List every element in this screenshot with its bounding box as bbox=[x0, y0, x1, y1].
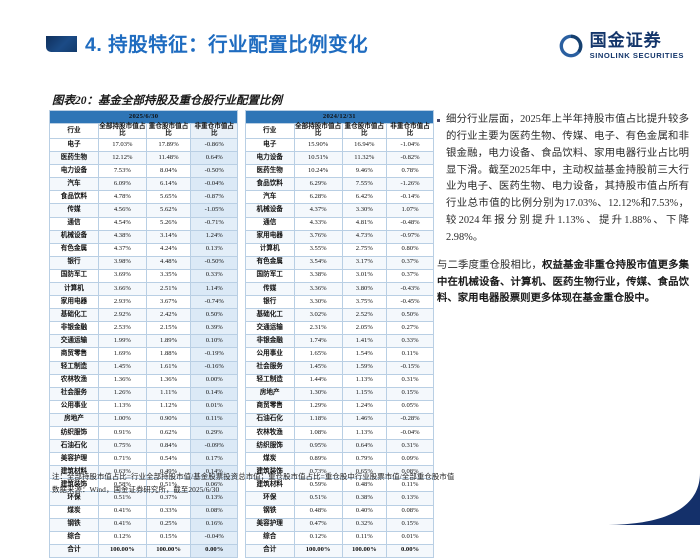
cell-heavy-share-left: 1.88% bbox=[146, 348, 191, 361]
cell-sector-right: 房地产 bbox=[245, 387, 294, 400]
cell-total-share-right: 1.18% bbox=[294, 413, 342, 426]
cell-heavy-share-right: 3.17% bbox=[342, 256, 387, 269]
cell-total-share-right: 1.74% bbox=[294, 335, 342, 348]
cell-heavy-share-right: 0.40% bbox=[342, 505, 387, 518]
table-row: 家用电器2.93%3.67%-0.74%银行3.30%3.75%-0.45% bbox=[50, 296, 434, 309]
cell-total-share-left: 0.41% bbox=[98, 505, 146, 518]
cell-total-share-right: 0.48% bbox=[294, 505, 342, 518]
cell-heavy-share-right: 6.42% bbox=[342, 191, 387, 204]
cell-nonheavy-share-left: -0.50% bbox=[191, 165, 238, 178]
table-note: 注：全部持股市值占比=行业全部持股市值/基金股票投资总市值；重仓股市值占比=重仓… bbox=[52, 471, 454, 482]
cell-heavy-share-left: 4.24% bbox=[146, 243, 191, 256]
cell-total-share-right: 3.76% bbox=[294, 230, 342, 243]
table-gap bbox=[238, 374, 246, 387]
cell-nonheavy-share-right: -0.04% bbox=[387, 427, 434, 440]
cell-total-share-right: 0.89% bbox=[294, 453, 342, 466]
cell-sector-right: 轻工制造 bbox=[245, 374, 294, 387]
cell-heavy-share-left: 11.48% bbox=[146, 152, 191, 165]
cell-nonheavy-share-right: -0.43% bbox=[387, 282, 434, 295]
cell-sector-left: 农林牧渔 bbox=[50, 374, 99, 387]
cell-heavy-share-left: 1.11% bbox=[146, 387, 191, 400]
table-row: 煤炭0.41%0.33%0.08%钢铁0.48%0.40%0.08% bbox=[50, 505, 434, 518]
cell-total-share-left: 2.93% bbox=[98, 296, 146, 309]
cell-heavy-share-right: 1.46% bbox=[342, 413, 387, 426]
cell-heavy-share-right: 0.11% bbox=[342, 531, 387, 544]
table-gap bbox=[238, 111, 246, 124]
cell-sector-left: 公用事业 bbox=[50, 400, 99, 413]
cell-heavy-share-left: 2.51% bbox=[146, 282, 191, 295]
cell-total-share-right: 0.95% bbox=[294, 440, 342, 453]
table-row: 交通运输1.99%1.89%0.10%非银金融1.74%1.41%0.33% bbox=[50, 335, 434, 348]
table-row: 银行3.98%4.48%-0.50%有色金属3.54%3.17%0.37% bbox=[50, 256, 434, 269]
table-row: 公用事业1.13%1.12%0.01%商贸零售1.29%1.24%0.05% bbox=[50, 400, 434, 413]
cell-total-share-left: 4.37% bbox=[98, 243, 146, 256]
cell-sector-left: 传媒 bbox=[50, 204, 99, 217]
cell-heavy-share-left: 0.90% bbox=[146, 413, 191, 426]
cell-sector-right: 机械设备 bbox=[245, 204, 294, 217]
cell-total-share-left: 17.03% bbox=[98, 138, 146, 151]
cell-total-share-right: 1.44% bbox=[294, 374, 342, 387]
cell-heavy-share-left: 5.65% bbox=[146, 191, 191, 204]
cell-nonheavy-share-left: -0.86% bbox=[191, 138, 238, 151]
cell-sector-left: 计算机 bbox=[50, 282, 99, 295]
col-header-total-left: 全部持股市值占比 bbox=[98, 124, 146, 139]
table-gap bbox=[238, 243, 246, 256]
table-row: 有色金属4.37%4.24%0.13%计算机3.55%2.75%0.80% bbox=[50, 243, 434, 256]
table-gap bbox=[238, 335, 246, 348]
cell-sector-right: 社会服务 bbox=[245, 361, 294, 374]
cell-total-share-left: 3.98% bbox=[98, 256, 146, 269]
cell-sector-left: 基础化工 bbox=[50, 309, 99, 322]
cell-sector-right: 合计 bbox=[245, 544, 294, 557]
table-row: 计算机3.66%2.51%1.14%传媒3.36%3.80%-0.43% bbox=[50, 282, 434, 295]
cell-total-share-left: 0.91% bbox=[98, 427, 146, 440]
cell-nonheavy-share-left: 0.50% bbox=[191, 309, 238, 322]
cell-nonheavy-share-left: 0.13% bbox=[191, 243, 238, 256]
cell-sector-left: 商贸零售 bbox=[50, 348, 99, 361]
cell-heavy-share-right: 1.13% bbox=[342, 427, 387, 440]
cell-total-share-left: 1.26% bbox=[98, 387, 146, 400]
table-row: 机械设备4.38%3.14%1.24%家用电器3.76%4.73%-0.97% bbox=[50, 230, 434, 243]
cell-nonheavy-share-left: -0.04% bbox=[191, 178, 238, 191]
cell-sector-left: 煤炭 bbox=[50, 505, 99, 518]
cell-sector-right: 银行 bbox=[245, 296, 294, 309]
cell-heavy-share-right: 4.73% bbox=[342, 230, 387, 243]
cell-sector-right: 医药生物 bbox=[245, 165, 294, 178]
table-gap bbox=[238, 505, 246, 518]
cell-total-share-right: 3.55% bbox=[294, 243, 342, 256]
cell-nonheavy-share-right: 0.31% bbox=[387, 374, 434, 387]
table-gap bbox=[238, 531, 246, 544]
table-gap bbox=[238, 204, 246, 217]
cell-nonheavy-share-left: 0.17% bbox=[191, 453, 238, 466]
commentary-paragraph-2-lead: 与二季度重仓股相比， bbox=[437, 260, 542, 271]
col-header-nonheavy-right: 非重仓市值占比 bbox=[387, 124, 434, 139]
table-row: 社会服务1.26%1.11%0.14%房地产1.30%1.15%0.15% bbox=[50, 387, 434, 400]
cell-nonheavy-share-right: -1.04% bbox=[387, 138, 434, 151]
table-head: 2025/6/30 2024/12/31 行业 全部持股市值占比 重仓股市值占比… bbox=[50, 111, 434, 139]
cell-nonheavy-share-right: 0.78% bbox=[387, 165, 434, 178]
cell-sector-left: 社会服务 bbox=[50, 387, 99, 400]
cell-total-share-left: 1.36% bbox=[98, 374, 146, 387]
cell-total-share-right: 4.37% bbox=[294, 204, 342, 217]
table-row: 基础化工2.92%2.42%0.50%基础化工3.02%2.52%0.50% bbox=[50, 309, 434, 322]
cell-sector-right: 煤炭 bbox=[245, 453, 294, 466]
table-gap bbox=[238, 230, 246, 243]
table-row: 合计100.00%100.00%0.00%合计100.00%100.00%0.0… bbox=[50, 544, 434, 557]
cell-heavy-share-left: 17.89% bbox=[146, 138, 191, 151]
cell-heavy-share-right: 7.55% bbox=[342, 178, 387, 191]
cell-total-share-right: 3.36% bbox=[294, 282, 342, 295]
cell-total-share-left: 3.69% bbox=[98, 269, 146, 282]
cell-total-share-right: 10.51% bbox=[294, 152, 342, 165]
table-period-row: 2025/6/30 2024/12/31 bbox=[50, 111, 434, 124]
table-row: 电力设备7.53%8.04%-0.50%医药生物10.24%9.46%0.78% bbox=[50, 165, 434, 178]
cell-total-share-right: 4.33% bbox=[294, 217, 342, 230]
slide-header: 4. 持股特征：行业配置比例变化 国金证券 SINOLINK SECURITIE… bbox=[0, 0, 700, 72]
cell-total-share-left: 1.13% bbox=[98, 400, 146, 413]
cell-total-share-right: 15.90% bbox=[294, 138, 342, 151]
cell-heavy-share-left: 0.62% bbox=[146, 427, 191, 440]
col-header-heavy-right: 重仓股市值占比 bbox=[342, 124, 387, 139]
cell-sector-right: 电子 bbox=[245, 138, 294, 151]
cell-nonheavy-share-right: 1.07% bbox=[387, 204, 434, 217]
cell-total-share-right: 3.38% bbox=[294, 269, 342, 282]
cell-total-share-left: 4.38% bbox=[98, 230, 146, 243]
data-source: 数据来源：Wind，国金证券研究所，截至2025/6/30 bbox=[52, 484, 219, 495]
cell-heavy-share-right: 100.00% bbox=[342, 544, 387, 557]
cell-sector-right: 基础化工 bbox=[245, 309, 294, 322]
cell-nonheavy-share-right: 0.80% bbox=[387, 243, 434, 256]
cell-total-share-left: 4.54% bbox=[98, 217, 146, 230]
cell-sector-right: 汽车 bbox=[245, 191, 294, 204]
cell-sector-right: 石油石化 bbox=[245, 413, 294, 426]
cell-sector-left: 有色金属 bbox=[50, 243, 99, 256]
cell-nonheavy-share-left: -0.09% bbox=[191, 440, 238, 453]
cell-total-share-left: 0.12% bbox=[98, 531, 146, 544]
table-gap bbox=[238, 361, 246, 374]
logo-chinese-name: 国金证券 bbox=[590, 32, 684, 49]
table-gap bbox=[238, 544, 246, 557]
table-gap bbox=[238, 282, 246, 295]
table-gap bbox=[238, 492, 246, 505]
logo-english-name: SINOLINK SECURITIES bbox=[590, 52, 684, 60]
table-row: 纺织服饰0.91%0.62%0.29%农林牧渔1.08%1.13%-0.04% bbox=[50, 427, 434, 440]
cell-sector-right: 钢铁 bbox=[245, 505, 294, 518]
table-row: 美容护理0.71%0.54%0.17%煤炭0.89%0.79%0.09% bbox=[50, 453, 434, 466]
cell-sector-left: 银行 bbox=[50, 256, 99, 269]
cell-nonheavy-share-left: -0.16% bbox=[191, 361, 238, 374]
cell-total-share-right: 0.12% bbox=[294, 531, 342, 544]
cell-total-share-right: 1.30% bbox=[294, 387, 342, 400]
cell-sector-left: 交通运输 bbox=[50, 335, 99, 348]
cell-heavy-share-left: 1.36% bbox=[146, 374, 191, 387]
cell-heavy-share-right: 1.41% bbox=[342, 335, 387, 348]
cell-nonheavy-share-left: 0.00% bbox=[191, 374, 238, 387]
table-row: 通信4.54%5.26%-0.71%通信4.33%4.81%-0.48% bbox=[50, 217, 434, 230]
cell-nonheavy-share-left: 1.14% bbox=[191, 282, 238, 295]
table-row: 非银金融2.53%2.15%0.39%交通运输2.31%2.05%0.27% bbox=[50, 322, 434, 335]
cell-nonheavy-share-right: 0.37% bbox=[387, 269, 434, 282]
cell-sector-right: 家用电器 bbox=[245, 230, 294, 243]
cell-nonheavy-share-right: 0.37% bbox=[387, 256, 434, 269]
cell-heavy-share-right: 2.52% bbox=[342, 309, 387, 322]
cell-sector-left: 电子 bbox=[50, 138, 99, 151]
cell-total-share-left: 0.75% bbox=[98, 440, 146, 453]
table-gap bbox=[238, 296, 246, 309]
table-row: 综合0.12%0.15%-0.04%综合0.12%0.11%0.01% bbox=[50, 531, 434, 544]
cell-heavy-share-right: 0.64% bbox=[342, 440, 387, 453]
table-gap bbox=[238, 413, 246, 426]
cell-heavy-share-left: 3.14% bbox=[146, 230, 191, 243]
col-header-sector-right: 行业 bbox=[245, 124, 294, 139]
table-gap bbox=[238, 309, 246, 322]
cell-heavy-share-right: 9.46% bbox=[342, 165, 387, 178]
cell-total-share-right: 0.51% bbox=[294, 492, 342, 505]
cell-heavy-share-right: 3.01% bbox=[342, 269, 387, 282]
cell-sector-left: 汽车 bbox=[50, 178, 99, 191]
cell-nonheavy-share-left: -0.04% bbox=[191, 531, 238, 544]
cell-total-share-right: 1.65% bbox=[294, 348, 342, 361]
cell-heavy-share-left: 0.15% bbox=[146, 531, 191, 544]
table-gap bbox=[238, 348, 246, 361]
cell-nonheavy-share-right: 0.27% bbox=[387, 322, 434, 335]
cell-nonheavy-share-right: -0.28% bbox=[387, 413, 434, 426]
cell-heavy-share-right: 2.05% bbox=[342, 322, 387, 335]
cell-total-share-left: 1.45% bbox=[98, 361, 146, 374]
cell-heavy-share-right: 11.32% bbox=[342, 152, 387, 165]
cell-heavy-share-left: 2.15% bbox=[146, 322, 191, 335]
cell-heavy-share-left: 2.42% bbox=[146, 309, 191, 322]
cell-nonheavy-share-right: -0.14% bbox=[387, 191, 434, 204]
cell-heavy-share-right: 1.54% bbox=[342, 348, 387, 361]
cell-heavy-share-left: 1.61% bbox=[146, 361, 191, 374]
cell-nonheavy-share-left: 0.10% bbox=[191, 335, 238, 348]
cell-sector-left: 综合 bbox=[50, 531, 99, 544]
cell-sector-right: 电力设备 bbox=[245, 152, 294, 165]
cell-heavy-share-left: 8.04% bbox=[146, 165, 191, 178]
table-row: 汽车6.09%6.14%-0.04%食品饮料6.29%7.55%-1.26% bbox=[50, 178, 434, 191]
table-gap bbox=[238, 191, 246, 204]
cell-heavy-share-right: 1.24% bbox=[342, 400, 387, 413]
cell-nonheavy-share-right: 0.50% bbox=[387, 309, 434, 322]
title-marker-icon bbox=[46, 36, 77, 52]
cell-sector-right: 食品饮料 bbox=[245, 178, 294, 191]
table-gap bbox=[238, 124, 246, 139]
corner-decoration bbox=[604, 473, 700, 525]
table-gap bbox=[238, 152, 246, 165]
cell-nonheavy-share-right: 0.11% bbox=[387, 348, 434, 361]
cell-sector-left: 通信 bbox=[50, 217, 99, 230]
cell-total-share-right: 1.45% bbox=[294, 361, 342, 374]
cell-heavy-share-left: 6.14% bbox=[146, 178, 191, 191]
cell-sector-right: 农林牧渔 bbox=[245, 427, 294, 440]
cell-heavy-share-left: 3.67% bbox=[146, 296, 191, 309]
commentary-panel: 细分行业层面，2025年上半年持股市值占比提升较多的行业主要为医药生物、传媒、电… bbox=[437, 112, 689, 308]
cell-sector-left: 食品饮料 bbox=[50, 191, 99, 204]
cell-total-share-left: 1.99% bbox=[98, 335, 146, 348]
table-row: 电子17.03%17.89%-0.86%电子15.90%16.94%-1.04% bbox=[50, 138, 434, 151]
table-row: 商贸零售1.69%1.88%-0.19%公用事业1.65%1.54%0.11% bbox=[50, 348, 434, 361]
cell-heavy-share-left: 100.00% bbox=[146, 544, 191, 557]
cell-total-share-right: 100.00% bbox=[294, 544, 342, 557]
cell-nonheavy-share-right: -0.97% bbox=[387, 230, 434, 243]
period-left: 2025/6/30 bbox=[50, 111, 238, 124]
cell-total-share-left: 6.09% bbox=[98, 178, 146, 191]
cell-sector-left: 医药生物 bbox=[50, 152, 99, 165]
company-logo: 国金证券 SINOLINK SECURITIES bbox=[558, 29, 684, 63]
table-gap bbox=[238, 165, 246, 178]
cell-sector-right: 非银金融 bbox=[245, 335, 294, 348]
col-header-nonheavy-left: 非重仓市值占比 bbox=[191, 124, 238, 139]
commentary-paragraph-1: 细分行业层面，2025年上半年持股市值占比提升较多的行业主要为医药生物、传媒、电… bbox=[446, 112, 689, 247]
page-title: 4. 持股特征：行业配置比例变化 bbox=[85, 28, 368, 57]
cell-heavy-share-left: 3.35% bbox=[146, 269, 191, 282]
table-gap bbox=[238, 440, 246, 453]
cell-heavy-share-left: 1.12% bbox=[146, 400, 191, 413]
table-row: 食品饮料4.78%5.65%-0.87%汽车6.28%6.42%-0.14% bbox=[50, 191, 434, 204]
cell-nonheavy-share-left: 0.29% bbox=[191, 427, 238, 440]
cell-sector-right: 有色金属 bbox=[245, 256, 294, 269]
cell-sector-left: 电力设备 bbox=[50, 165, 99, 178]
cell-sector-right: 综合 bbox=[245, 531, 294, 544]
cell-nonheavy-share-right: 0.05% bbox=[387, 400, 434, 413]
cell-total-share-left: 1.69% bbox=[98, 348, 146, 361]
sinolink-logo-icon bbox=[558, 33, 584, 59]
cell-heavy-share-right: 1.59% bbox=[342, 361, 387, 374]
cell-sector-right: 计算机 bbox=[245, 243, 294, 256]
cell-heavy-share-right: 0.79% bbox=[342, 453, 387, 466]
table-gap bbox=[238, 322, 246, 335]
cell-total-share-left: 0.71% bbox=[98, 453, 146, 466]
cell-nonheavy-share-left: -0.71% bbox=[191, 217, 238, 230]
cell-sector-left: 美容护理 bbox=[50, 453, 99, 466]
cell-sector-right: 纺织服饰 bbox=[245, 440, 294, 453]
col-header-sector-left: 行业 bbox=[50, 124, 99, 139]
table-row: 传媒4.56%5.62%-1.05%机械设备4.37%3.30%1.07% bbox=[50, 204, 434, 217]
cell-nonheavy-share-left: -0.50% bbox=[191, 256, 238, 269]
cell-total-share-left: 12.12% bbox=[98, 152, 146, 165]
table-row: 国防军工3.69%3.35%0.33%国防军工3.38%3.01%0.37% bbox=[50, 269, 434, 282]
cell-total-share-left: 2.53% bbox=[98, 322, 146, 335]
cell-sector-left: 机械设备 bbox=[50, 230, 99, 243]
cell-total-share-left: 4.78% bbox=[98, 191, 146, 204]
col-header-heavy-left: 重仓股市值占比 bbox=[146, 124, 191, 139]
col-header-total-right: 全部持股市值占比 bbox=[294, 124, 342, 139]
cell-sector-right: 公用事业 bbox=[245, 348, 294, 361]
table-gap bbox=[238, 387, 246, 400]
cell-nonheavy-share-left: 0.64% bbox=[191, 152, 238, 165]
cell-nonheavy-share-right: 0.08% bbox=[387, 505, 434, 518]
cell-nonheavy-share-left: 0.11% bbox=[191, 413, 238, 426]
table-row: 医药生物12.12%11.48%0.64%电力设备10.51%11.32%-0.… bbox=[50, 152, 434, 165]
cell-total-share-right: 3.54% bbox=[294, 256, 342, 269]
cell-sector-right: 商贸零售 bbox=[245, 400, 294, 413]
cell-sector-left: 家用电器 bbox=[50, 296, 99, 309]
cell-sector-left: 国防军工 bbox=[50, 269, 99, 282]
cell-sector-left: 房地产 bbox=[50, 413, 99, 426]
cell-total-share-right: 1.08% bbox=[294, 427, 342, 440]
cell-nonheavy-share-left: -1.05% bbox=[191, 204, 238, 217]
table-row: 农林牧渔1.36%1.36%0.00%轻工制造1.44%1.13%0.31% bbox=[50, 374, 434, 387]
cell-total-share-right: 2.31% bbox=[294, 322, 342, 335]
cell-heavy-share-right: 1.15% bbox=[342, 387, 387, 400]
cell-sector-left: 非银金融 bbox=[50, 322, 99, 335]
table-gap bbox=[238, 453, 246, 466]
cell-total-share-right: 3.30% bbox=[294, 296, 342, 309]
cell-heavy-share-right: 0.38% bbox=[342, 492, 387, 505]
cell-heavy-share-right: 1.13% bbox=[342, 374, 387, 387]
cell-nonheavy-share-right: -1.26% bbox=[387, 178, 434, 191]
cell-total-share-right: 3.02% bbox=[294, 309, 342, 322]
cell-total-share-left: 3.66% bbox=[98, 282, 146, 295]
cell-nonheavy-share-left: 0.14% bbox=[191, 387, 238, 400]
cell-heavy-share-right: 3.80% bbox=[342, 282, 387, 295]
cell-heavy-share-left: 4.48% bbox=[146, 256, 191, 269]
cell-sector-left: 合计 bbox=[50, 544, 99, 557]
table-row: 房地产1.00%0.90%0.11%石油石化1.18%1.46%-0.28% bbox=[50, 413, 434, 426]
cell-nonheavy-share-left: -0.74% bbox=[191, 296, 238, 309]
cell-sector-left: 轻工制造 bbox=[50, 361, 99, 374]
commentary-bullet-1: 细分行业层面，2025年上半年持股市值占比提升较多的行业主要为医药生物、传媒、电… bbox=[437, 112, 689, 247]
table-gap bbox=[238, 256, 246, 269]
cell-heavy-share-right: 3.75% bbox=[342, 296, 387, 309]
cell-heavy-share-left: 1.89% bbox=[146, 335, 191, 348]
commentary-paragraph-2: 与二季度重仓股相比，权益基金非重仓持股市值更多集中在机械设备、计算机、医药生物行… bbox=[437, 258, 689, 309]
table-gap bbox=[238, 427, 246, 440]
figure-caption: 图表20：基金全部持股及重仓股行业配置比例 bbox=[52, 92, 282, 108]
table-gap bbox=[238, 269, 246, 282]
cell-heavy-share-right: 4.81% bbox=[342, 217, 387, 230]
cell-nonheavy-share-left: 0.33% bbox=[191, 269, 238, 282]
cell-nonheavy-share-left: -0.87% bbox=[191, 191, 238, 204]
cell-total-share-right: 6.28% bbox=[294, 191, 342, 204]
table-row: 轻工制造1.45%1.61%-0.16%社会服务1.45%1.59%-0.15% bbox=[50, 361, 434, 374]
cell-total-share-right: 10.24% bbox=[294, 165, 342, 178]
cell-nonheavy-share-right: 0.31% bbox=[387, 440, 434, 453]
bullet-square-icon bbox=[437, 119, 440, 122]
cell-nonheavy-share-left: -0.19% bbox=[191, 348, 238, 361]
cell-nonheavy-share-right: -0.48% bbox=[387, 217, 434, 230]
cell-nonheavy-share-left: 0.00% bbox=[191, 544, 238, 557]
cell-heavy-share-right: 2.75% bbox=[342, 243, 387, 256]
table-row: 石油石化0.75%0.84%-0.09%纺织服饰0.95%0.64%0.31% bbox=[50, 440, 434, 453]
table-gap bbox=[238, 138, 246, 151]
cell-nonheavy-share-left: 1.24% bbox=[191, 230, 238, 243]
table-gap bbox=[238, 217, 246, 230]
cell-total-share-left: 4.56% bbox=[98, 204, 146, 217]
cell-heavy-share-left: 5.62% bbox=[146, 204, 191, 217]
cell-nonheavy-share-right: -0.82% bbox=[387, 152, 434, 165]
cell-heavy-share-right: 3.30% bbox=[342, 204, 387, 217]
cell-heavy-share-left: 5.26% bbox=[146, 217, 191, 230]
cell-sector-left: 纺织服饰 bbox=[50, 427, 99, 440]
cell-nonheavy-share-right: 0.09% bbox=[387, 453, 434, 466]
period-right: 2024/12/31 bbox=[245, 111, 433, 124]
cell-nonheavy-share-right: 0.15% bbox=[387, 387, 434, 400]
cell-sector-right: 国防军工 bbox=[245, 269, 294, 282]
cell-heavy-share-right: 16.94% bbox=[342, 138, 387, 151]
cell-total-share-right: 6.29% bbox=[294, 178, 342, 191]
cell-nonheavy-share-right: -0.45% bbox=[387, 296, 434, 309]
cell-total-share-left: 7.53% bbox=[98, 165, 146, 178]
table-gap bbox=[238, 400, 246, 413]
table-gap bbox=[238, 178, 246, 191]
cell-nonheavy-share-left: 0.08% bbox=[191, 505, 238, 518]
cell-sector-right: 交通运输 bbox=[245, 322, 294, 335]
cell-heavy-share-left: 0.54% bbox=[146, 453, 191, 466]
cell-sector-right: 环保 bbox=[245, 492, 294, 505]
